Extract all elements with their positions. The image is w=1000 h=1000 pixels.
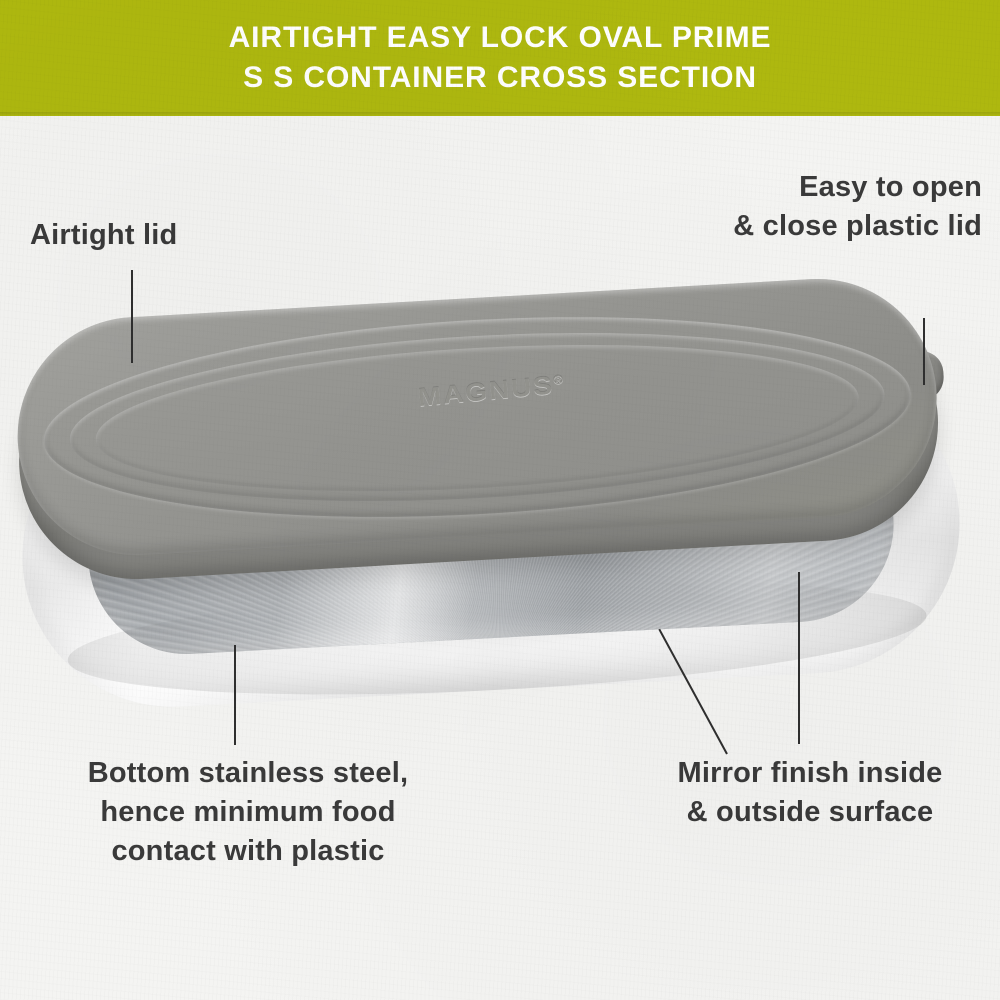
- callout-bottom-stainless-steel-line-2: hence minimum food: [34, 793, 462, 832]
- callout-easy-to-open-line-2: & close plastic lid: [733, 207, 982, 246]
- callout-bottom-stainless-steel-line-1: Bottom stainless steel,: [34, 754, 462, 793]
- callout-easy-to-open-line-1: Easy to open: [733, 168, 982, 207]
- leader-line-easy-open: [923, 318, 925, 385]
- callout-airtight-lid-line-1: Airtight lid: [30, 216, 177, 255]
- callout-bottom-stainless-steel-line-3: contact with plastic: [34, 832, 462, 871]
- callout-mirror-finish-line-1: Mirror finish inside: [634, 754, 986, 793]
- title-banner: AIRTIGHT EASY LOCK OVAL PRIME S S CONTAI…: [0, 0, 1000, 116]
- callout-mirror-finish: Mirror finish inside & outside surface: [634, 754, 986, 832]
- leader-line-mirror-finish-vertical: [798, 572, 800, 744]
- registered-mark: ®: [553, 372, 564, 386]
- callout-mirror-finish-line-2: & outside surface: [634, 793, 986, 832]
- title-line-1: AIRTIGHT EASY LOCK OVAL PRIME: [229, 18, 772, 58]
- infographic-page: MAGNUS® Airtight lid Easy to open & clos…: [0, 0, 1000, 1000]
- title-line-2: S S CONTAINER CROSS SECTION: [243, 58, 757, 98]
- leader-line-airtight-lid: [131, 270, 133, 363]
- leader-line-bottom-steel: [234, 645, 236, 745]
- plastic-lid: MAGNUS®: [11, 273, 945, 592]
- product-illustration: MAGNUS®: [0, 270, 1000, 700]
- callout-easy-to-open: Easy to open & close plastic lid: [733, 168, 982, 246]
- callout-bottom-stainless-steel: Bottom stainless steel, hence minimum fo…: [34, 754, 462, 871]
- callout-airtight-lid: Airtight lid: [30, 216, 177, 255]
